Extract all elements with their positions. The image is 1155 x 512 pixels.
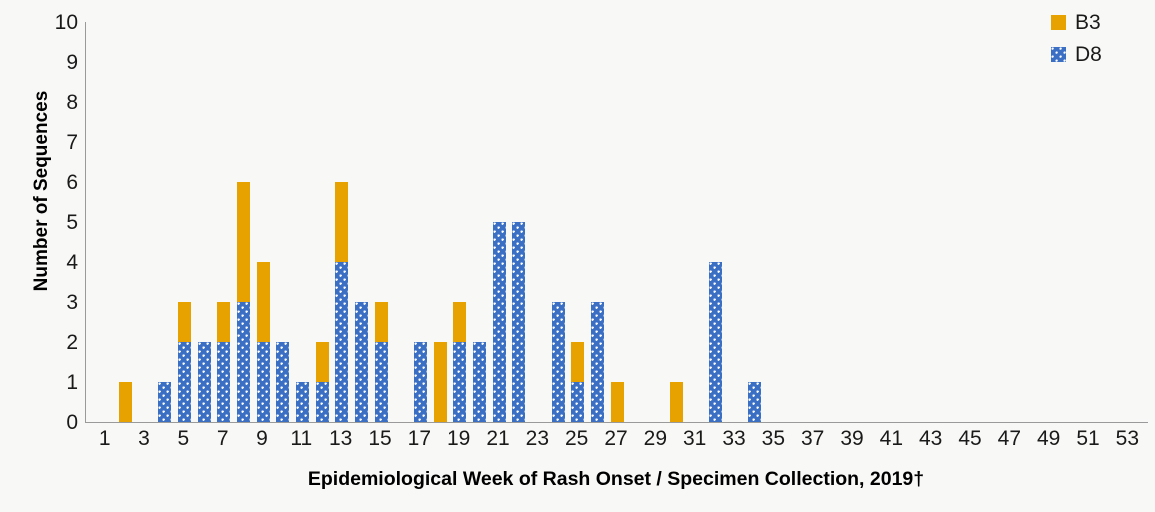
bar-group <box>453 302 466 422</box>
bar-segment-d8 <box>571 382 584 422</box>
bar-segment-d8 <box>375 342 388 422</box>
x-tick-label: 37 <box>793 428 833 450</box>
bar-group <box>414 342 427 422</box>
bar-segment-d8 <box>355 302 368 422</box>
x-tick-label: 27 <box>596 428 636 450</box>
x-tick-label: 51 <box>1068 428 1108 450</box>
x-tick-label: 53 <box>1107 428 1147 450</box>
legend-swatch-icon <box>1051 47 1066 62</box>
bar-group <box>217 302 230 422</box>
bar-segment-b3 <box>119 382 132 422</box>
y-tick-label: 8 <box>30 92 78 113</box>
bar-segment-d8 <box>158 382 171 422</box>
bar-group <box>571 342 584 422</box>
bar-segment-b3 <box>178 302 191 342</box>
bar-segment-b3 <box>611 382 624 422</box>
x-tick-label: 29 <box>635 428 675 450</box>
bar-segment-d8 <box>493 222 506 422</box>
bar-segment-b3 <box>571 342 584 382</box>
legend-label: B3 <box>1075 12 1101 33</box>
y-tick-label: 3 <box>30 292 78 313</box>
bar-group <box>257 262 270 422</box>
bar-group <box>237 182 250 422</box>
bar-group <box>355 302 368 422</box>
x-tick-label: 15 <box>360 428 400 450</box>
bar-group <box>316 342 329 422</box>
x-tick-label: 49 <box>1029 428 1069 450</box>
bar-group <box>434 342 447 422</box>
bar-group <box>119 382 132 422</box>
bar-segment-b3 <box>453 302 466 342</box>
bar-segment-d8 <box>257 342 270 422</box>
bar-group <box>670 382 683 422</box>
legend-item-d8[interactable]: D8 <box>1051 40 1147 68</box>
bar-segment-d8 <box>316 382 329 422</box>
x-tick-label: 25 <box>557 428 597 450</box>
bar-segment-d8 <box>335 262 348 422</box>
bar-group <box>512 222 525 422</box>
x-tick-label: 19 <box>439 428 479 450</box>
bar-segment-b3 <box>217 302 230 342</box>
bar-segment-b3 <box>434 342 447 422</box>
y-tick-label: 6 <box>30 172 78 193</box>
x-tick-label: 23 <box>517 428 557 450</box>
bar-segment-d8 <box>552 302 565 422</box>
bar-segment-b3 <box>335 182 348 262</box>
bar-segment-b3 <box>257 262 270 342</box>
bar-segment-d8 <box>296 382 309 422</box>
bar-group <box>296 382 309 422</box>
x-tick-label: 17 <box>399 428 439 450</box>
x-tick-label: 43 <box>911 428 951 450</box>
bar-group <box>611 382 624 422</box>
x-tick-label: 13 <box>321 428 361 450</box>
bar-group <box>198 342 211 422</box>
bar-segment-d8 <box>512 222 525 422</box>
bar-group <box>375 302 388 422</box>
x-tick-label: 21 <box>478 428 518 450</box>
bar-chart: Number of Sequences 109876543210 1357911… <box>0 0 1155 512</box>
bar-segment-d8 <box>217 342 230 422</box>
y-tick-label: 5 <box>30 212 78 233</box>
bar-segment-d8 <box>237 302 250 422</box>
x-tick-label: 7 <box>203 428 243 450</box>
bar-segment-b3 <box>316 342 329 382</box>
y-tick-label: 2 <box>30 332 78 353</box>
bar-segment-d8 <box>709 262 722 422</box>
x-axis-tick-labels: 1357911131517192123252729313335373941434… <box>85 428 1147 462</box>
x-tick-label: 33 <box>714 428 754 450</box>
x-tick-label: 47 <box>989 428 1029 450</box>
y-tick-label: 1 <box>30 372 78 393</box>
x-tick-label: 9 <box>242 428 282 450</box>
x-axis-title: Epidemiological Week of Rash Onset / Spe… <box>85 468 1147 491</box>
bar-segment-b3 <box>375 302 388 342</box>
x-tick-label: 11 <box>281 428 321 450</box>
bar-group <box>709 262 722 422</box>
bar-segment-d8 <box>591 302 604 422</box>
legend-item-b3[interactable]: B3 <box>1051 8 1147 36</box>
x-tick-label: 35 <box>753 428 793 450</box>
x-tick-label: 39 <box>832 428 872 450</box>
x-tick-label: 31 <box>675 428 715 450</box>
bar-segment-d8 <box>276 342 289 422</box>
y-tick-label: 9 <box>30 52 78 73</box>
bar-group <box>158 382 171 422</box>
bar-segment-d8 <box>414 342 427 422</box>
y-axis-tick-labels: 109876543210 <box>30 0 78 440</box>
bars-layer <box>86 22 1148 422</box>
bar-segment-d8 <box>748 382 761 422</box>
bar-group <box>591 302 604 422</box>
bar-group <box>473 342 486 422</box>
x-tick-label: 5 <box>163 428 203 450</box>
x-tick-label: 45 <box>950 428 990 450</box>
bar-group <box>276 342 289 422</box>
bar-group <box>335 182 348 422</box>
legend-swatch-icon <box>1051 15 1066 30</box>
x-tick-label: 3 <box>124 428 164 450</box>
bar-segment-d8 <box>178 342 191 422</box>
y-tick-label: 4 <box>30 252 78 273</box>
y-tick-label: 7 <box>30 132 78 153</box>
y-tick-label: 10 <box>30 12 78 33</box>
chart-legend: B3D8 <box>1051 8 1147 72</box>
plot-area <box>85 22 1148 423</box>
bar-segment-d8 <box>453 342 466 422</box>
legend-label: D8 <box>1075 44 1102 65</box>
x-tick-label: 1 <box>85 428 125 450</box>
x-tick-label: 41 <box>871 428 911 450</box>
bar-segment-b3 <box>237 182 250 302</box>
bar-group <box>178 302 191 422</box>
bar-group <box>748 382 761 422</box>
bar-segment-d8 <box>198 342 211 422</box>
bar-segment-d8 <box>473 342 486 422</box>
y-tick-label: 0 <box>30 412 78 433</box>
bar-group <box>493 222 506 422</box>
bar-group <box>552 302 565 422</box>
bar-segment-b3 <box>670 382 683 422</box>
